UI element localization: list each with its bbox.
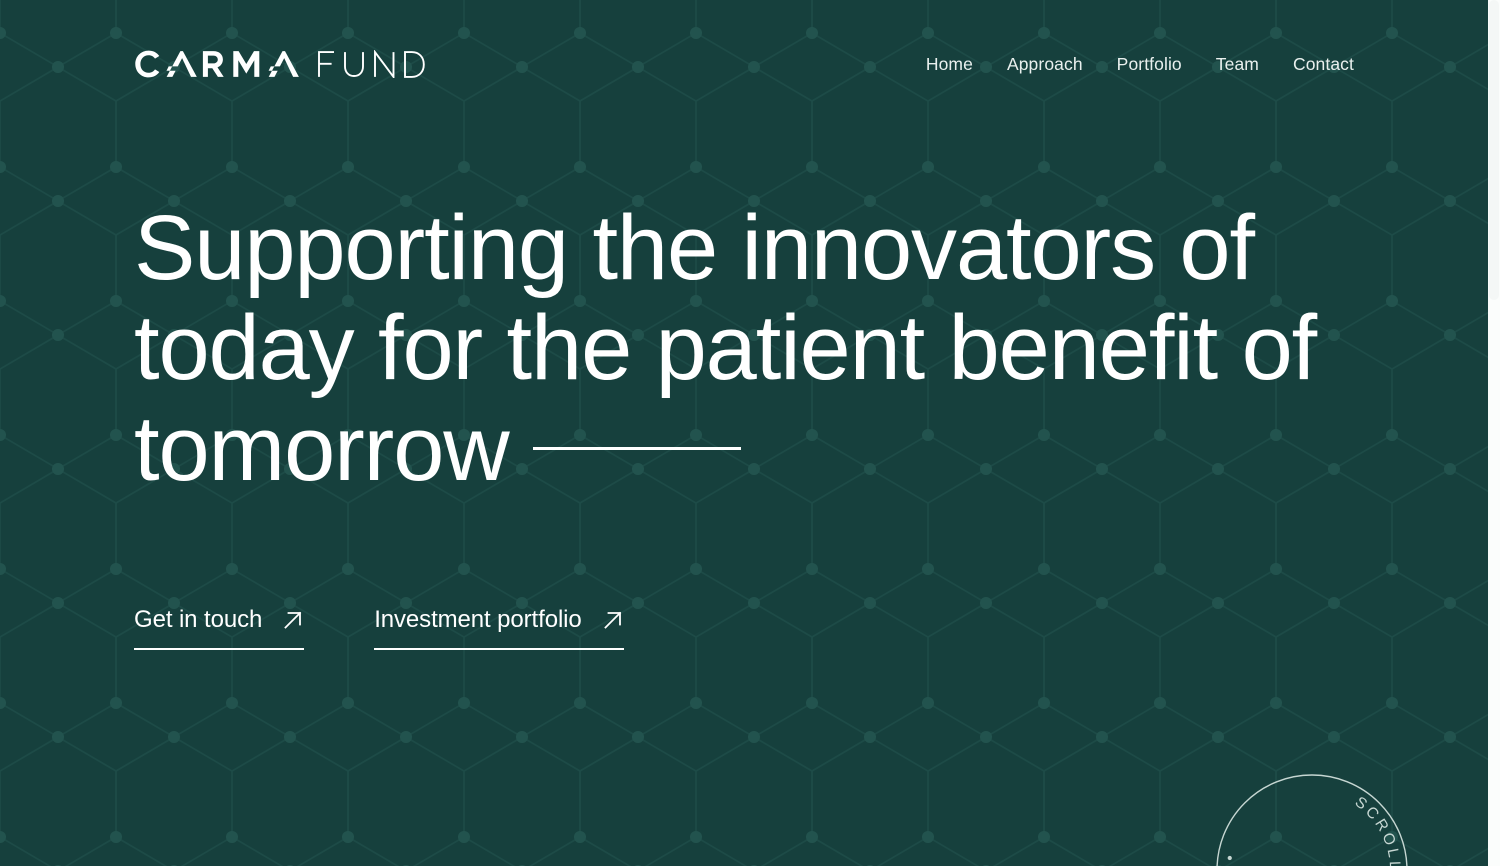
site-header: Home Approach Portfolio Team Contact [0, 0, 1488, 128]
nav-item-home[interactable]: Home [909, 48, 990, 81]
scrollbar-thumb[interactable] [1489, 0, 1499, 300]
page-title: Supporting the innovators of today for t… [134, 198, 1324, 499]
main-navigation: Home Approach Portfolio Team Contact [909, 48, 1354, 81]
cta-investment-portfolio[interactable]: Investment portfolio [374, 608, 623, 650]
cta-investment-portfolio-label: Investment portfolio [374, 608, 581, 632]
arrow-up-right-icon [282, 609, 304, 631]
arrow-up-right-icon [602, 609, 624, 631]
headline-underline-rule [533, 447, 741, 450]
cta-get-in-touch[interactable]: Get in touch [134, 608, 304, 650]
scroll-down-ring-text: SCROLL DOWN • SCROLL DOWN • [1221, 794, 1403, 866]
nav-item-portfolio[interactable]: Portfolio [1100, 48, 1199, 81]
headline-text: Supporting the innovators of today for t… [134, 197, 1316, 500]
page-canvas: Home Approach Portfolio Team Contact Sup… [0, 0, 1488, 866]
hero-section: Supporting the innovators of today for t… [134, 198, 1354, 499]
nav-item-contact[interactable]: Contact [1276, 48, 1354, 81]
hero-cta-row: Get in touch Investment portfolio [134, 608, 624, 650]
cta-get-in-touch-label: Get in touch [134, 608, 262, 632]
scrollbar-track[interactable] [1488, 0, 1500, 866]
scroll-down-badge[interactable]: SCROLL DOWN • SCROLL DOWN • [1217, 775, 1407, 866]
carma-fund-logo[interactable] [134, 49, 434, 79]
nav-item-team[interactable]: Team [1199, 48, 1276, 81]
scroll-down-ring-textpath: SCROLL DOWN • SCROLL DOWN • [1221, 794, 1403, 866]
nav-item-approach[interactable]: Approach [990, 48, 1100, 81]
